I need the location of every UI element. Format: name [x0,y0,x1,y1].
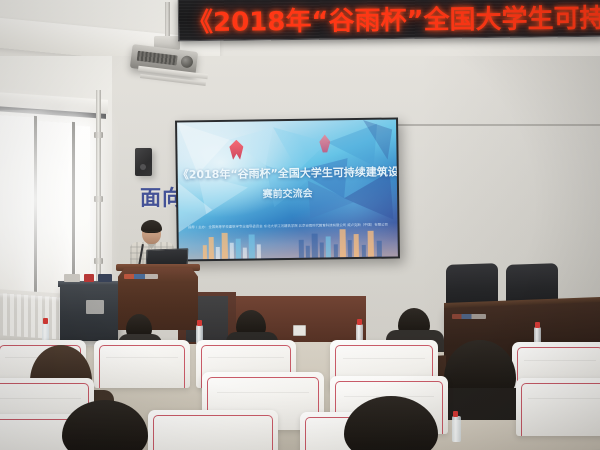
pipe-joint-3 [94,258,103,264]
pipe-joint-2 [94,196,103,202]
cabinet-panel [86,300,104,314]
cabinet-top-item-3 [98,274,112,282]
chair[interactable] [516,378,600,436]
lectern-plaque [124,274,158,279]
wall-outlet [293,325,306,336]
pipe-joint-1 [94,132,103,138]
led-banner-text: 《2018年“谷雨杯”全国大学生可持续 [187,0,600,39]
slide-surface: 《2018年“谷雨杯”全国大学生可持续建筑设计竞赛》 赛前交流会 指导 / 主办… [177,119,398,259]
presenter-glasses-icon [144,231,159,236]
wall-speaker-icon [135,148,152,176]
cabinet-top-item-1 [64,274,80,282]
slide-title: 《2018年“谷雨杯”全国大学生可持续建筑设计竞赛》 [178,163,397,182]
window-mullion-1 [34,116,37,300]
water-bottle[interactable] [452,416,461,442]
led-banner: 《2018年“谷雨杯”全国大学生可持续 [178,0,600,41]
conference-room-photo: 面向 《2018年“谷雨杯”全国大学生可持续 [0,0,600,450]
chair[interactable] [94,340,190,388]
slide-subtitle: 赛前交流会 [178,183,397,201]
projector-mount-pole [165,2,170,38]
cabinet-top-item-2 [84,274,94,282]
window-pane-1 [0,115,34,298]
wall-trim-line [390,124,600,126]
wall-pipe [96,90,101,300]
projection-screen: 《2018年“谷雨杯”全国大学生可持续建筑设计竞赛》 赛前交流会 指导 / 主办… [175,117,400,261]
head-table-plaque [452,314,486,319]
slide-skyline-graphic [178,222,397,259]
chair[interactable] [148,410,278,450]
